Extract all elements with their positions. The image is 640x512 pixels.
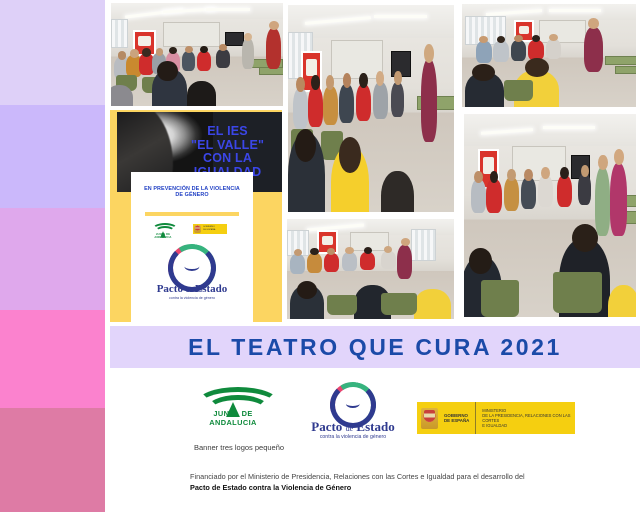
poster-subtitle-line-2: DE GÉNERO — [137, 192, 247, 198]
color-band-3 — [0, 208, 105, 310]
pacto-word-de: de — [186, 287, 192, 294]
pacto-word-de: de — [346, 424, 354, 433]
ministerio-label: MINISTERIO DE LA PRESIDENCIA, RELACIONES… — [482, 408, 575, 428]
page-root: EL IES "EL VALLE" CON LA IGUALDAD EN PRE… — [0, 0, 640, 512]
junta-de-andalucia-logo: JUNTA DE ANDALUCIA — [194, 385, 272, 425]
gobierno-de-espana-label: GOBIERNO DE ESPAÑA — [444, 413, 469, 424]
gob-line-2: DE ESPAÑA — [203, 229, 215, 232]
photo-classroom-right-top — [462, 4, 636, 107]
color-band-4 — [0, 310, 105, 408]
poster-headline-line-2: "EL VALLE" — [180, 139, 276, 153]
gobierno-de-espana-label: GOBIERNO DE ESPAÑA — [203, 226, 215, 232]
ministerio-line-3: E IGUALDAD — [482, 423, 575, 428]
photo-classroom-center-top — [288, 5, 454, 212]
poster-subtitle: EN PREVENCIÓN DE LA VIOLENCIA DE GÉNERO — [137, 186, 247, 198]
logo-divider — [475, 402, 476, 434]
pacto-de-estado-title: Pacto de Estado — [298, 419, 408, 435]
funding-note: Financiado por el Ministerio de Presiden… — [190, 472, 564, 494]
photo-classroom-wide-top-left — [111, 3, 283, 106]
poster-ies-el-valle: EL IES "EL VALLE" CON LA IGUALDAD EN PRE… — [110, 110, 282, 322]
gobierno-de-espana-ministerio-logo: GOBIERNO DE ESPAÑA MINISTERIO DE LA PRES… — [417, 402, 575, 434]
pacto-de-estado-title: Pacto de Estado — [142, 283, 242, 295]
funding-note-line-1: Financiado por el Ministerio de Presiden… — [190, 472, 564, 483]
junta-de-andalucia-logo: JUNTA DE ANDALUCIA — [150, 222, 176, 238]
poster-divider-rule — [145, 212, 239, 216]
gob-line-2: DE ESPAÑA — [444, 418, 469, 424]
pacto-word-estado: Estado — [356, 419, 394, 434]
photo-classroom-center-bottom — [287, 219, 454, 319]
coat-of-arms-icon — [421, 408, 438, 429]
banner-caption: Banner tres logos pequeño — [194, 443, 284, 452]
pacto-de-estado-subtitle: contra la violencia de género — [142, 296, 242, 300]
poster-lower-panel: EN PREVENCIÓN DE LA VIOLENCIA DE GÉNERO … — [131, 172, 253, 322]
color-band-5 — [0, 408, 105, 512]
funding-note-card: Financiado por el Ministerio de Presiden… — [178, 464, 575, 498]
poster-headline: EL IES "EL VALLE" CON LA IGUALDAD — [180, 125, 276, 179]
junta-de-andalucia-label: JUNTA DE ANDALUCIA — [150, 233, 176, 239]
pacto-de-estado-subtitle: contra la violencia de género — [298, 434, 408, 440]
gobierno-de-espana-logo: GOBIERNO DE ESPAÑA — [193, 224, 227, 234]
funding-note-line-2: Pacto de Estado contra la Violencia de G… — [190, 483, 351, 492]
ministerio-line-2: DE LA PRESIDENCIA, RELACIONES CON LAS CO… — [482, 413, 575, 423]
pacto-de-estado-logo: Pacto de Estado contra la violencia de g… — [298, 382, 408, 444]
photo-classroom-right-bottom — [464, 114, 636, 317]
color-band-2 — [0, 105, 105, 208]
poster-headline-line-1: EL IES — [180, 125, 276, 139]
pacto-de-estado-logo: Pacto de Estado contra la violencia de g… — [142, 244, 242, 316]
coat-of-arms-icon — [194, 225, 201, 233]
pacto-word-pacto: Pacto — [157, 283, 183, 295]
color-band-1 — [0, 0, 105, 105]
main-title-band: EL TEATRO QUE CURA 2021 — [110, 326, 640, 368]
three-logos-banner: JUNTA DE ANDALUCIA Pacto de Estado contr… — [178, 376, 575, 457]
pacto-word-estado: Estado — [195, 283, 227, 295]
pacto-word-pacto: Pacto — [311, 419, 342, 434]
poster-headline-line-3: CON LA — [180, 152, 276, 166]
pacto-smile-icon — [184, 261, 199, 271]
page-title: EL TEATRO QUE CURA 2021 — [188, 334, 562, 361]
junta-de-andalucia-label: JUNTA DE ANDALUCIA — [194, 409, 272, 427]
